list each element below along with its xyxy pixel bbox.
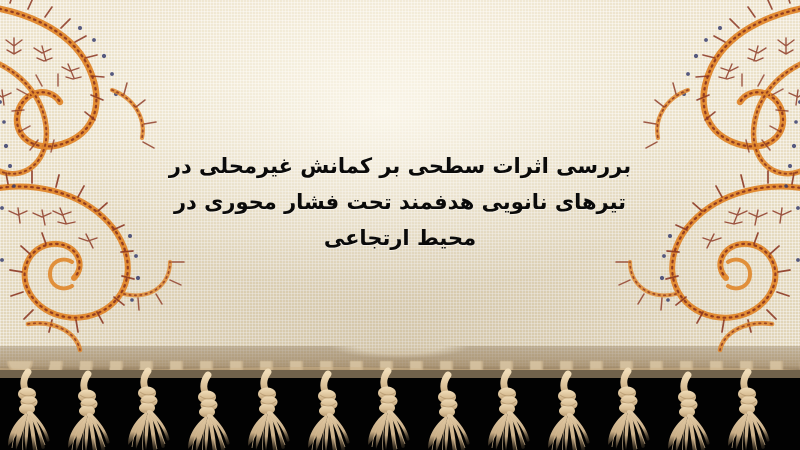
slide-title: بررسی اثرات سطحی بر کمانش غیرمحلی در تیر… (0, 148, 800, 256)
black-background (0, 370, 800, 450)
title-line-3: محیط ارتجاعی (0, 220, 800, 256)
fabric-hem (0, 346, 800, 372)
title-slide: بررسی اثرات سطحی بر کمانش غیرمحلی در تیر… (0, 0, 800, 450)
title-line-1: بررسی اثرات سطحی بر کمانش غیرمحلی در (0, 148, 800, 184)
title-line-2: تیرهای نانویی هدفمند تحت فشار محوری در (0, 184, 800, 220)
